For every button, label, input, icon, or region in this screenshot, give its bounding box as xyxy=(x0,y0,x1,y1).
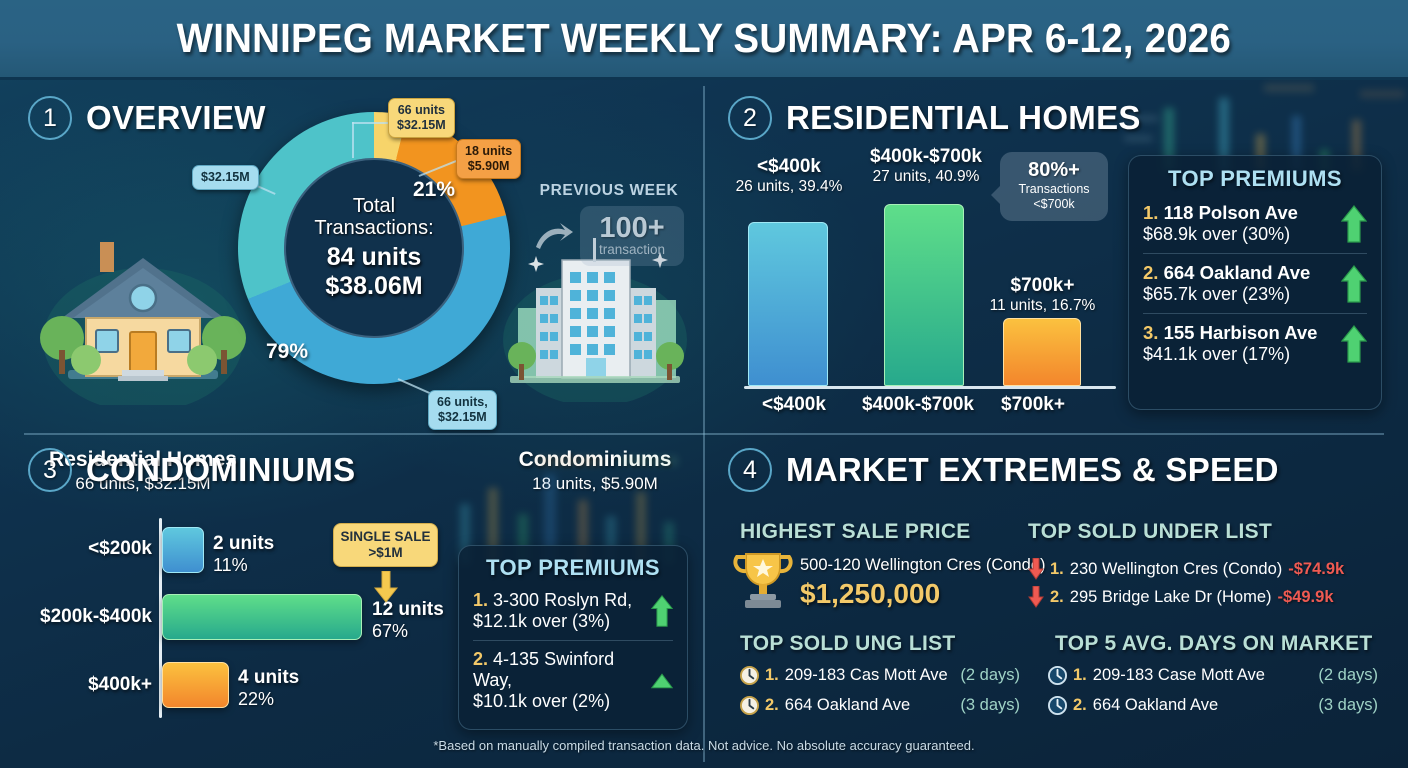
homes-premium-3-detail: $41.1k over (17%) xyxy=(1143,344,1333,365)
footnote: *Based on manually compiled transaction … xyxy=(0,738,1408,753)
page-title: WINNIPEG MARKET WEEKLY SUMMARY: APR 6-12… xyxy=(177,15,1231,62)
avg-days-1-days: (2 days) xyxy=(1318,666,1378,685)
clock-icon xyxy=(740,696,759,715)
homes-premium-1-rank: 1. xyxy=(1143,202,1158,223)
homes-premium-row-2: 2. 664 Oakland Ave $65.7k over (23%) xyxy=(1143,262,1367,305)
ung-list-1-days: (2 days) xyxy=(960,666,1020,685)
avg-days-2-address: 664 Oakland Ave xyxy=(1093,696,1313,715)
ung-list-2-address: 664 Oakland Ave xyxy=(785,696,955,715)
clock-icon xyxy=(740,666,759,685)
condos-premium-2-address: 4-135 Swinford Way, xyxy=(473,649,614,690)
condos-premium-1-rank: 1. xyxy=(473,590,488,610)
hbar-value-200k-400k-pct: 67% xyxy=(372,621,444,642)
panel-number-3: 3 xyxy=(28,448,72,492)
under-list-1-address: 230 Wellington Cres (Condo) xyxy=(1070,560,1282,579)
single-sale-line1: SINGLE SALE xyxy=(338,529,433,545)
trophy-icon xyxy=(730,548,796,610)
hbar-value-over-400k-units: 4 units xyxy=(238,667,299,689)
previous-week-count: 100+ xyxy=(594,212,670,245)
under-list-1-rank: 1. xyxy=(1050,560,1064,579)
under-list-row-2: 2. 295 Bridge Lake Dr (Home) -$49.9k xyxy=(1028,586,1334,608)
bubble-line1: Transactions xyxy=(1006,182,1102,197)
callout-homes-bottom: 66 units, $32.15M xyxy=(428,390,497,430)
under-list-1-delta: -$74.9k xyxy=(1288,560,1344,579)
clock-icon xyxy=(1048,666,1067,685)
bar-under-400k xyxy=(748,222,828,386)
bar-chart-axis xyxy=(744,386,1116,389)
donut-pct-condo: 21% xyxy=(413,178,455,202)
avg-days-row-1: 1. 209-183 Case Mott Ave (2 days) xyxy=(1048,666,1378,685)
down-arrow-icon xyxy=(373,571,399,603)
avg-days-heading: TOP 5 AVG. DAYS ON MARKET xyxy=(1055,632,1373,656)
condominiums-heading: 3 CONDOMINIUMS xyxy=(28,448,355,492)
hbar-value-under-200k-pct: 11% xyxy=(213,555,274,576)
previous-week-block: PREVIOUS WEEK 100+ transaction xyxy=(534,182,684,266)
callout-homes-bottom-value: $32.15M xyxy=(437,410,488,425)
bar-caption-under-400k-title: <$400k xyxy=(728,156,850,178)
donut-center-line2: Transactions: xyxy=(314,217,433,239)
avg-days-2-rank: 2. xyxy=(1073,696,1087,715)
highest-sale-price: $1,250,000 xyxy=(800,578,940,610)
condos-premium-1-detail: $12.1k over (3%) xyxy=(473,611,643,632)
condominiums-title: CONDOMINIUMS xyxy=(86,451,355,489)
condos-premium-row-2: 2. 4-135 Swinford Way, $10.1k over (2%) xyxy=(473,649,673,712)
residential-heading: 2 RESIDENTIAL HOMES xyxy=(728,96,1141,140)
bar-xlabel-over-700k: $700k+ xyxy=(1001,394,1065,416)
donut-center-units: 84 units xyxy=(327,243,421,272)
avg-days-1-rank: 1. xyxy=(1073,666,1087,685)
bar-caption-under-400k: <$400k 26 units, 39.4% xyxy=(728,156,850,196)
callout-homes-top-units: 66 units xyxy=(397,103,446,118)
callout-homes-top-value: $32.15M xyxy=(397,118,446,133)
page-header: WINNIPEG MARKET WEEKLY SUMMARY: APR 6-12… xyxy=(0,0,1408,80)
homes-premium-row-1: 1. 118 Polson Ave $68.9k over (30%) xyxy=(1143,202,1367,245)
bar-caption-400k-700k-title: $400k-$700k xyxy=(852,146,1000,168)
condos-premium-row-1: 1. 3-300 Roslyn Rd, $12.1k over (3%) xyxy=(473,590,673,632)
bar-caption-400k-700k: $400k-$700k 27 units, 40.9% xyxy=(852,146,1000,186)
extremes-title: MARKET EXTREMES & SPEED xyxy=(786,451,1279,489)
hbar-label-over-400k: $400k+ xyxy=(10,674,152,696)
ung-list-2-rank: 2. xyxy=(765,696,779,715)
homes-premium-sep-1 xyxy=(1143,253,1367,254)
homes-premium-1-detail: $68.9k over (30%) xyxy=(1143,224,1333,245)
transactions-under-700k-bubble: 80%+ Transactions <$700k xyxy=(1000,152,1108,221)
hbar-value-over-400k-pct: 22% xyxy=(238,689,299,710)
ung-list-row-2: 2. 664 Oakland Ave (3 days) xyxy=(740,696,1020,715)
callout-homes-left: $32.15M xyxy=(192,165,259,190)
condos-premiums-title: TOP PREMIUMS xyxy=(473,555,673,581)
ung-list-row-1: 1. 209-183 Cas Mott Ave (2 days) xyxy=(740,666,1020,685)
up-arrow-icon xyxy=(1341,204,1367,244)
up-arrow-icon xyxy=(651,594,673,628)
ung-list-1-address: 209-183 Cas Mott Ave xyxy=(785,666,955,685)
under-list-heading: TOP SOLD UNDER LIST xyxy=(1028,520,1272,544)
previous-week-value-box: 100+ transaction xyxy=(580,206,684,266)
single-sale-badge: SINGLE SALE >$1M xyxy=(333,523,438,567)
bubble-value: 80%+ xyxy=(1006,159,1102,182)
hbar-value-under-200k-units: 2 units xyxy=(213,533,274,555)
panel-number-2: 2 xyxy=(728,96,772,140)
ung-list-2-days: (3 days) xyxy=(960,696,1020,715)
callout-homes-bottom-units: 66 units, xyxy=(437,395,488,410)
hbar-over-400k xyxy=(162,662,229,708)
homes-premium-3-address: 155 Harbison Ave xyxy=(1164,322,1318,343)
hbar-value-over-400k: 4 units 22% xyxy=(238,667,299,710)
callout-condos-units: 18 units xyxy=(465,144,512,159)
homes-premium-2-address: 664 Oakland Ave xyxy=(1164,262,1311,283)
bar-400k-700k xyxy=(884,204,964,386)
hbar-label-200k-400k: $200k-$400k xyxy=(10,606,152,628)
house-illustration xyxy=(38,220,248,405)
panel-number-1: 1 xyxy=(28,96,72,140)
bar-caption-over-700k: $700k+ 11 units, 16.7% xyxy=(975,275,1110,315)
highest-sale-address: 500-120 Wellington Cres (Condo) xyxy=(800,556,1046,575)
avg-days-1-address: 209-183 Case Mott Ave xyxy=(1093,666,1313,685)
condos-premium-2-rank: 2. xyxy=(473,649,488,669)
ung-list-heading: TOP SOLD UNG LIST xyxy=(740,632,956,656)
homes-premium-1-address: 118 Polson Ave xyxy=(1164,202,1298,223)
panel-number-4: 4 xyxy=(728,448,772,492)
leader-line-1b xyxy=(352,122,390,124)
extremes-heading: 4 MARKET EXTREMES & SPEED xyxy=(728,448,1279,492)
condos-premium-sep-1 xyxy=(473,640,673,641)
callout-homes-top: 66 units $32.15M xyxy=(388,98,455,138)
overview-heading: 1 OVERVIEW xyxy=(28,96,266,140)
hbar-200k-400k xyxy=(162,594,362,640)
ung-list-1-rank: 1. xyxy=(765,666,779,685)
up-arrow-icon xyxy=(1341,324,1367,364)
hbar-value-200k-400k: 12 units 67% xyxy=(372,599,444,642)
curved-arrow-icon xyxy=(534,220,574,252)
single-sale-line2: >$1M xyxy=(338,545,433,561)
homes-premium-3-rank: 3. xyxy=(1143,322,1158,343)
avg-days-2-days: (3 days) xyxy=(1318,696,1378,715)
clock-icon xyxy=(1048,696,1067,715)
residential-title: RESIDENTIAL HOMES xyxy=(786,99,1141,137)
infographic-page: WINNIPEG MARKET WEEKLY SUMMARY: APR 6-12… xyxy=(0,0,1408,768)
leader-line-1 xyxy=(352,122,354,158)
down-arrow-icon xyxy=(1028,586,1044,608)
homes-premium-row-3: 3. 155 Harbison Ave $41.1k over (17%) xyxy=(1143,322,1367,365)
previous-week-title: PREVIOUS WEEK xyxy=(534,182,684,200)
avg-days-row-2: 2. 664 Oakland Ave (3 days) xyxy=(1048,696,1378,715)
bar-caption-over-700k-title: $700k+ xyxy=(975,275,1110,297)
bar-xlabel-under-400k: <$400k xyxy=(762,394,826,416)
hbar-value-under-200k: 2 units 11% xyxy=(213,533,274,576)
homes-premium-2-rank: 2. xyxy=(1143,262,1158,283)
donut-center-value: $38.06M xyxy=(325,272,422,301)
under-list-2-address: 295 Bridge Lake Dr (Home) xyxy=(1070,588,1272,607)
callout-condos-value: $5.90M xyxy=(465,159,512,174)
bar-over-700k xyxy=(1003,318,1081,386)
callout-condos: 18 units $5.90M xyxy=(456,139,521,179)
up-triangle-icon xyxy=(651,672,673,690)
bar-caption-over-700k-stats: 11 units, 16.7% xyxy=(975,297,1110,315)
under-list-row-1: 1. 230 Wellington Cres (Condo) -$74.9k xyxy=(1028,558,1344,580)
bar-xlabel-400k-700k: $400k-$700k xyxy=(862,394,974,416)
up-arrow-icon xyxy=(1341,264,1367,304)
homes-premium-sep-2 xyxy=(1143,313,1367,314)
under-list-2-delta: -$49.9k xyxy=(1278,588,1334,607)
previous-week-unit: transaction xyxy=(594,242,670,257)
donut-pct-home: 79% xyxy=(266,340,308,364)
bubble-line2: <$700k xyxy=(1006,197,1102,212)
condos-premium-1-address: 3-300 Roslyn Rd, xyxy=(493,590,632,610)
hbar-under-200k xyxy=(162,527,204,573)
down-arrow-icon xyxy=(1028,558,1044,580)
under-list-2-rank: 2. xyxy=(1050,588,1064,607)
condos-premium-2-detail: $10.1k over (2%) xyxy=(473,691,643,712)
highest-sale-heading: HIGHEST SALE PRICE xyxy=(740,520,971,544)
bar-caption-400k-700k-stats: 27 units, 40.9% xyxy=(852,168,1000,186)
homes-premiums-title: TOP PREMIUMS xyxy=(1143,166,1367,192)
homes-premium-2-detail: $65.7k over (23%) xyxy=(1143,284,1333,305)
homes-top-premiums-card: TOP PREMIUMS 1. 118 Polson Ave $68.9k ov… xyxy=(1128,155,1382,410)
bar-caption-under-400k-stats: 26 units, 39.4% xyxy=(728,178,850,196)
condos-top-premiums-card: TOP PREMIUMS 1. 3-300 Roslyn Rd, $12.1k … xyxy=(458,545,688,730)
hbar-label-under-200k: <$200k xyxy=(10,538,152,560)
donut-center-line1: Total xyxy=(353,195,395,217)
